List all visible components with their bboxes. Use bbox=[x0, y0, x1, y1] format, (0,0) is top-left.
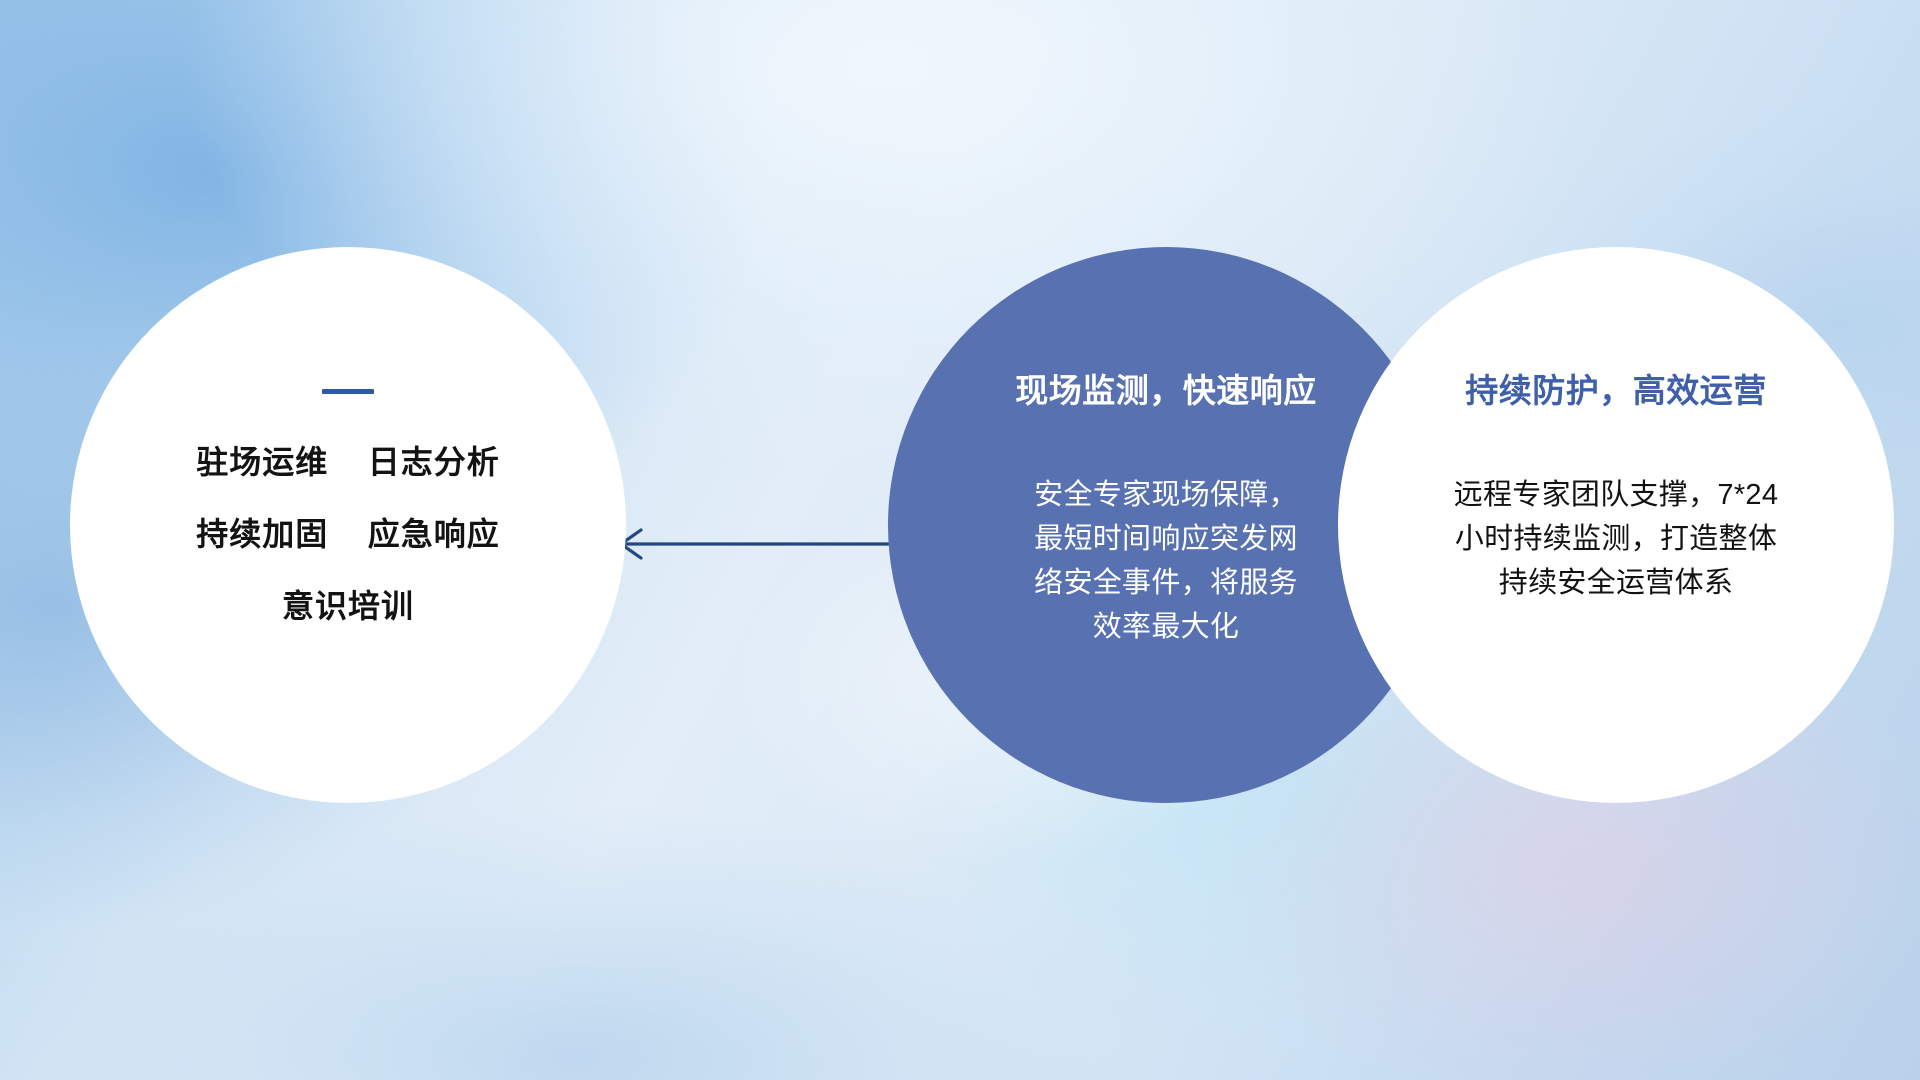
middle-circle-body: 安全专家现场保障， 最短时间响应突发网 络安全事件，将服务 效率最大化 bbox=[956, 473, 1376, 649]
middle-body-line-3: 络安全事件，将服务 bbox=[956, 561, 1376, 605]
middle-circle-content: 现场监测，快速响应 安全专家现场保障， 最短时间响应突发网 络安全事件，将服务 … bbox=[956, 371, 1376, 649]
right-circle-title: 持续防护，高效运营 bbox=[1396, 371, 1836, 411]
right-body-line-2: 小时持续监测，打造整体 bbox=[1396, 517, 1836, 561]
left-circle-content: 驻场运维 日志分析 持续加固 应急响应 意识培训 bbox=[70, 389, 626, 622]
right-body-line-3: 持续安全运营体系 bbox=[1396, 561, 1836, 605]
capability-line-2: 持续加固 应急响应 bbox=[70, 518, 626, 550]
middle-body-line-2: 最短时间响应突发网 bbox=[956, 517, 1376, 561]
capability-circle-right[interactable]: 持续防护，高效运营 远程专家团队支撑，7*24 小时持续监测，打造整体 持续安全… bbox=[1338, 247, 1894, 803]
right-circle-body: 远程专家团队支撑，7*24 小时持续监测，打造整体 持续安全运营体系 bbox=[1396, 473, 1836, 605]
right-circle-content: 持续防护，高效运营 远程专家团队支撑，7*24 小时持续监测，打造整体 持续安全… bbox=[1396, 371, 1836, 605]
capability-circle-left[interactable]: 驻场运维 日志分析 持续加固 应急响应 意识培训 bbox=[70, 247, 626, 803]
middle-circle-title: 现场监测，快速响应 bbox=[956, 371, 1376, 411]
arrow-left-icon bbox=[605, 520, 895, 568]
middle-body-line-4: 效率最大化 bbox=[956, 605, 1376, 649]
right-body-line-1: 远程专家团队支撑，7*24 bbox=[1396, 473, 1836, 517]
middle-body-line-1: 安全专家现场保障， bbox=[956, 473, 1376, 517]
capability-line-3: 意识培训 bbox=[70, 590, 626, 622]
slide-canvas: 驻场运维 日志分析 持续加固 应急响应 意识培训 现场监测，快速响应 安全专家现… bbox=[0, 0, 1920, 1080]
divider-dash bbox=[322, 389, 374, 394]
capability-line-1: 驻场运维 日志分析 bbox=[70, 446, 626, 478]
